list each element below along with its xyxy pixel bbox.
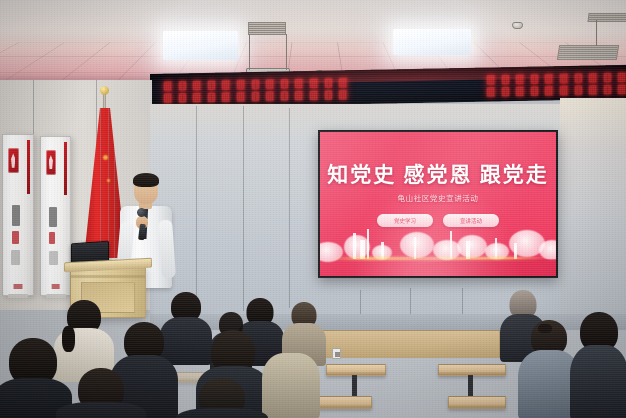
led-word-gap: [354, 82, 369, 83]
led-glyph: [281, 79, 289, 88]
led-word-gap: [398, 81, 413, 82]
led-glyph: [164, 94, 172, 103]
smoke-detector: [512, 22, 523, 29]
microphone-head-icon: [137, 208, 146, 217]
panel-light-right: [393, 29, 471, 55]
led-glyph: [618, 73, 626, 82]
led-glyph: [295, 91, 303, 100]
photo-scene: 知党史 感党恩 跟党走 龟山社区党史宣讲活动 党史学习 宣讲活动: [0, 0, 626, 418]
led-glyph: [222, 80, 230, 89]
wall-power-outlet[interactable]: [332, 348, 341, 359]
attendee-hair-clip: [538, 324, 552, 333]
led-glyph: [516, 87, 524, 96]
wall-seam-back-b: [243, 106, 244, 311]
led-word-gap: [376, 93, 391, 94]
led-glyph: [222, 92, 230, 101]
banner-stand-right: [46, 294, 66, 298]
attendee-shoulders: [56, 402, 146, 418]
desk-front-panel-back-row: [320, 330, 500, 358]
banner-emblem-icon: [46, 150, 56, 175]
led-glyph: [179, 81, 187, 90]
air-vent-far-right: [587, 13, 626, 22]
led-glyph: [339, 90, 347, 99]
led-glyph: [531, 75, 539, 84]
led-glyph: [502, 87, 510, 96]
attendee-mid-4: [262, 326, 320, 418]
projector-rod-left: [249, 34, 250, 70]
banner-heading-text: [49, 207, 57, 228]
led-glyph: [193, 81, 201, 90]
led-word-gap: [354, 94, 369, 95]
led-glyph: [252, 80, 260, 89]
attendee-shoulders: [262, 353, 320, 418]
wall-seam-back-a: [196, 106, 197, 311]
led-glyph: [604, 73, 612, 82]
banner-fabric-sheen: [320, 132, 556, 276]
hanger-rod-right: [596, 20, 597, 46]
stage-backdrop-banner: 知党史 感党恩 跟党走 龟山社区党史宣讲活动 党史学习 宣讲活动: [318, 130, 558, 278]
flag-star-small: [107, 179, 110, 182]
led-glyph: [604, 85, 612, 94]
desk-edge: [319, 405, 371, 408]
banner-footer-mark: [14, 284, 23, 289]
led-glyph: [531, 87, 539, 96]
led-word-gap: [420, 93, 435, 94]
led-glyph: [589, 73, 597, 82]
led-word-gap: [465, 92, 480, 93]
led-glyph: [560, 74, 568, 83]
led-glyph: [310, 91, 318, 100]
banner-body-text: [49, 251, 58, 265]
led-word-gap: [465, 80, 480, 81]
led-glyph: [618, 85, 626, 94]
led-glyph: [325, 79, 333, 88]
led-glyph: [310, 79, 318, 88]
speaker-hair: [133, 173, 159, 187]
roll-up-banner-left: [2, 134, 34, 296]
desk-leg: [352, 375, 357, 397]
led-glyph: [295, 79, 303, 88]
flag-fold-b: [108, 108, 110, 258]
led-glyph: [560, 86, 568, 95]
wall-right: [560, 98, 626, 323]
banner-emblem-icon: [8, 148, 19, 174]
led-glyph: [237, 80, 245, 89]
led-glyph: [266, 80, 274, 89]
led-glyph: [545, 86, 553, 95]
attendee-front-2: [56, 368, 146, 418]
attendee-front-3: [176, 378, 268, 418]
led-glyph: [487, 75, 495, 84]
wall-seam-back-c: [289, 108, 290, 308]
air-vent-right: [557, 45, 619, 60]
desk-front-right: [448, 396, 506, 409]
banner-red-stripe: [27, 140, 30, 194]
led-glyph: [252, 92, 260, 101]
led-glyph: [516, 75, 524, 84]
flag-finial: [100, 86, 109, 95]
led-glyph: [575, 86, 583, 95]
led-glyph: [237, 92, 245, 101]
flag-fold-a: [100, 108, 102, 258]
led-glyph: [208, 81, 216, 90]
banner-red-stripe: [64, 142, 67, 196]
attendee-mid-6: [570, 312, 626, 418]
led-glyph: [589, 85, 597, 94]
desk-edge: [449, 405, 505, 408]
banner-footer-mark: [51, 284, 60, 289]
flag-star: [103, 155, 108, 160]
led-word-gap: [420, 81, 435, 82]
air-vent-center: [248, 22, 286, 35]
led-word-gap: [443, 80, 458, 81]
led-glyph: [281, 91, 289, 100]
led-glyph: [164, 82, 172, 91]
led-glyph: [193, 93, 201, 102]
banner-subheading-text: [49, 232, 55, 245]
projector-rod-right: [286, 34, 287, 70]
led-glyph: [208, 93, 216, 102]
lectern-band: [71, 275, 145, 278]
banner-subheading-text: [12, 231, 19, 244]
led-word-gap: [443, 92, 458, 93]
desk-front-left: [318, 396, 372, 409]
led-glyph: [325, 91, 333, 100]
led-glyph: [339, 78, 347, 87]
led-glyph: [575, 74, 583, 83]
led-glyph: [487, 87, 495, 96]
attendee-shoulders: [176, 408, 268, 418]
led-word-gap: [398, 93, 413, 94]
led-glyph: [545, 74, 553, 83]
led-glyph: [179, 93, 187, 102]
panel-light-left: [163, 31, 238, 60]
banner-body-text: [11, 250, 20, 264]
led-glyph: [266, 92, 274, 101]
banner-stand-left: [8, 294, 28, 298]
banner-heading-text: [12, 205, 20, 226]
desk-leg: [468, 375, 473, 397]
led-glyph: [502, 75, 510, 84]
attendee-shoulders: [570, 345, 626, 418]
led-word-gap: [376, 81, 391, 82]
